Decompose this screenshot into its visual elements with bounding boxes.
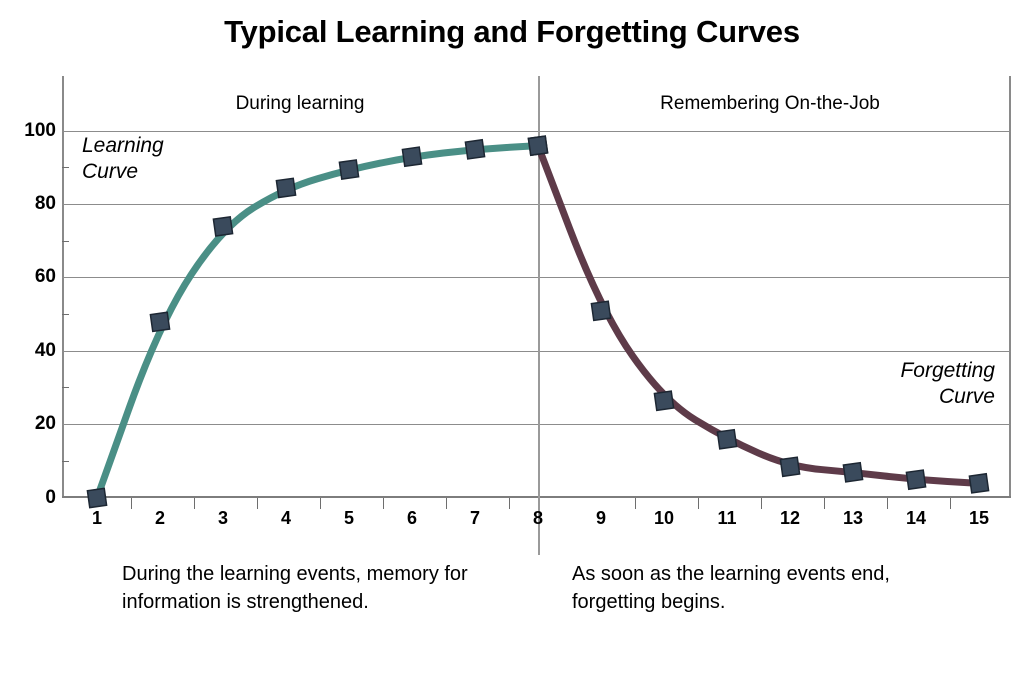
y-tick-label-80: 80 bbox=[12, 193, 56, 215]
y-minor-tick-50 bbox=[62, 314, 69, 315]
caption-right: As soon as the learning events end, forg… bbox=[572, 560, 932, 617]
x-tick-mark-12 bbox=[824, 498, 825, 509]
x-tick-mark-9 bbox=[635, 498, 636, 509]
chart-root: Typical Learning and Forgetting Curves D… bbox=[0, 0, 1024, 677]
annotation-forgetting-line1: Forgetting bbox=[790, 358, 995, 384]
x-tick-label-4: 4 bbox=[266, 508, 306, 529]
gridline-100 bbox=[62, 131, 1011, 132]
x-tick-label-14: 14 bbox=[896, 508, 936, 529]
gridline-60 bbox=[62, 277, 1011, 278]
x-tick-mark-10 bbox=[698, 498, 699, 509]
x-tick-mark-13 bbox=[887, 498, 888, 509]
section-divider bbox=[538, 76, 540, 555]
x-tick-mark-5 bbox=[383, 498, 384, 509]
x-tick-label-13: 13 bbox=[833, 508, 873, 529]
y-minor-tick-70 bbox=[62, 241, 69, 242]
annotation-forgetting-curve: Forgetting Curve bbox=[790, 358, 995, 411]
y-tick-label-0: 0 bbox=[12, 487, 56, 509]
x-tick-mark-3 bbox=[257, 498, 258, 509]
y-minor-tick-30 bbox=[62, 387, 69, 388]
x-tick-label-8: 8 bbox=[518, 508, 558, 529]
x-tick-label-6: 6 bbox=[392, 508, 432, 529]
plot-right-border bbox=[1009, 76, 1011, 498]
annotation-learning-line2: Curve bbox=[82, 159, 232, 185]
x-tick-label-7: 7 bbox=[455, 508, 495, 529]
page-title: Typical Learning and Forgetting Curves bbox=[0, 14, 1024, 50]
y-axis: 100 80 60 40 20 0 bbox=[0, 0, 56, 677]
x-tick-label-1: 1 bbox=[77, 508, 117, 529]
annotation-learning-line1: Learning bbox=[82, 133, 232, 159]
x-tick-label-10: 10 bbox=[644, 508, 684, 529]
x-tick-label-15: 15 bbox=[959, 508, 999, 529]
x-tick-label-3: 3 bbox=[203, 508, 243, 529]
x-tick-label-11: 11 bbox=[707, 508, 747, 529]
x-tick-label-5: 5 bbox=[329, 508, 369, 529]
section-header-during-learning: During learning bbox=[180, 93, 420, 115]
section-header-remembering: Remembering On-the-Job bbox=[600, 93, 940, 115]
gridline-40 bbox=[62, 351, 1011, 352]
y-tick-label-40: 40 bbox=[12, 340, 56, 362]
x-tick-mark-1 bbox=[131, 498, 132, 509]
x-tick-label-2: 2 bbox=[140, 508, 180, 529]
x-tick-mark-11 bbox=[761, 498, 762, 509]
y-minor-tick-90 bbox=[62, 167, 69, 168]
caption-left: During the learning events, memory for i… bbox=[122, 560, 502, 617]
x-tick-mark-2 bbox=[194, 498, 195, 509]
x-tick-label-9: 9 bbox=[581, 508, 621, 529]
gridline-80 bbox=[62, 204, 1011, 205]
y-minor-tick-10 bbox=[62, 461, 69, 462]
annotation-forgetting-line2: Curve bbox=[790, 384, 995, 410]
x-tick-mark-6 bbox=[446, 498, 447, 509]
x-tick-label-12: 12 bbox=[770, 508, 810, 529]
gridline-20 bbox=[62, 424, 1011, 425]
x-tick-mark-14 bbox=[950, 498, 951, 509]
y-tick-label-60: 60 bbox=[12, 266, 56, 288]
annotation-learning-curve: Learning Curve bbox=[82, 133, 232, 186]
x-tick-mark-4 bbox=[320, 498, 321, 509]
y-tick-label-100: 100 bbox=[12, 120, 56, 142]
y-axis-line bbox=[62, 76, 64, 498]
y-tick-label-20: 20 bbox=[12, 413, 56, 435]
x-tick-mark-7 bbox=[509, 498, 510, 509]
x-axis-line bbox=[62, 496, 1011, 498]
